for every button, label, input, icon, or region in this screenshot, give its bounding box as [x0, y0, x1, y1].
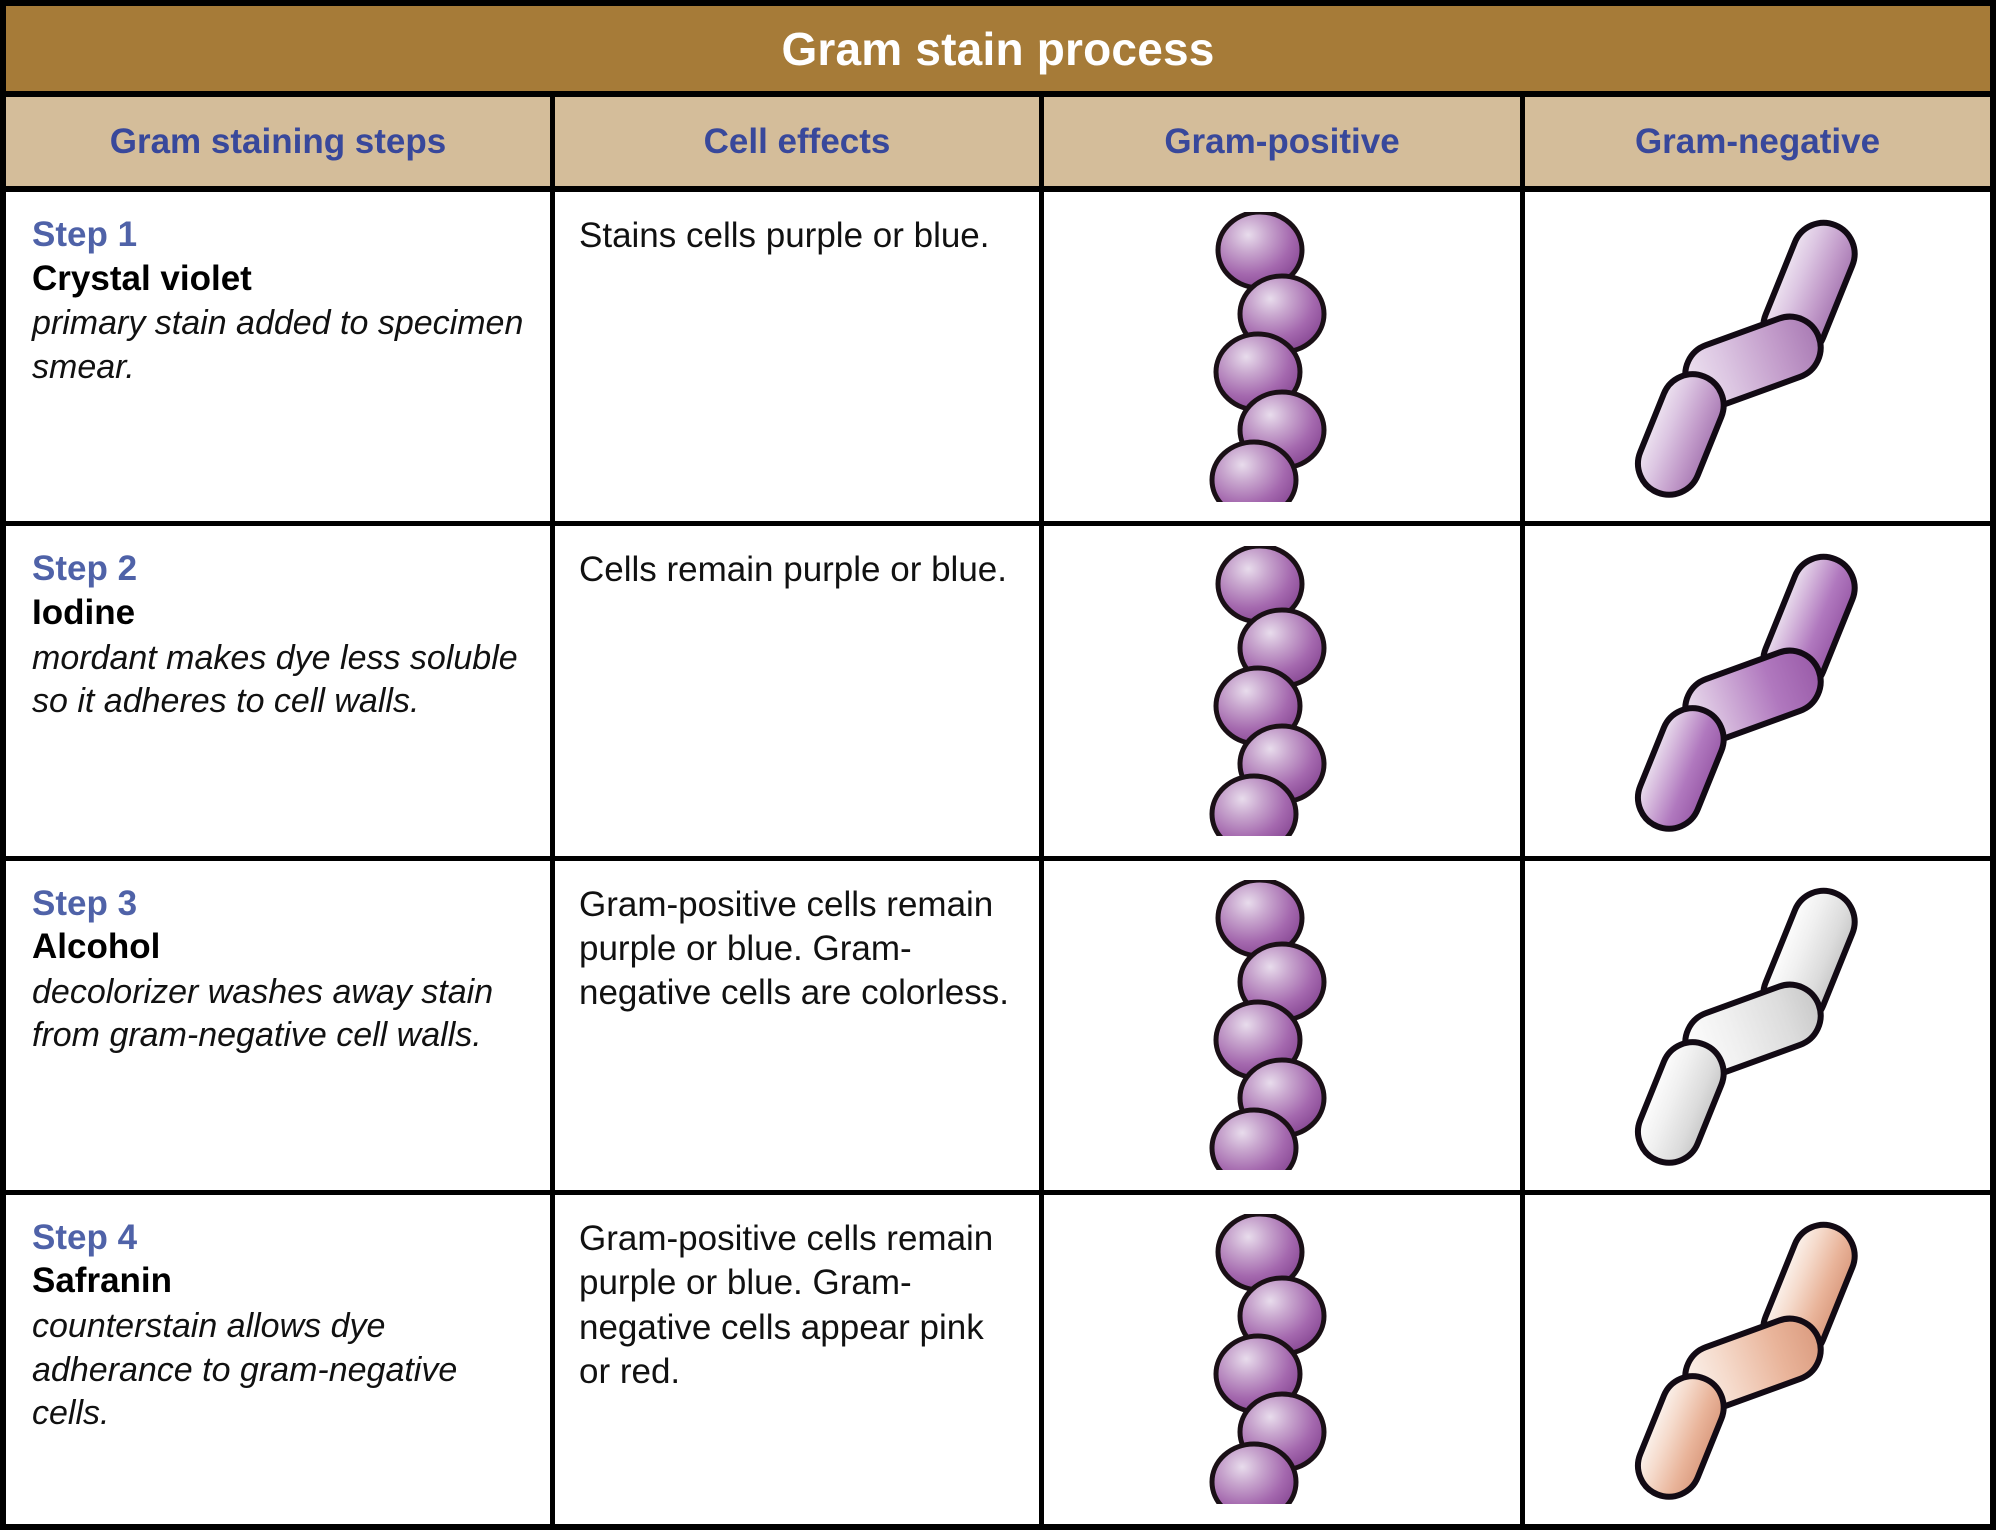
cell-effects-cell: Gram-positive cells remain purple or blu… [555, 1195, 1044, 1524]
table-body: Step 1 Crystal violet primary stain adde… [6, 192, 1990, 1524]
cell-effects-text: Cells remain purple or blue. [579, 548, 1021, 592]
reagent-name: Safranin [32, 1259, 524, 1303]
step-description: decolorizer washes away stain from gram-… [32, 971, 524, 1058]
gram-negative-cell [1525, 861, 1990, 1190]
colorless-rods-icon [1525, 861, 1990, 1190]
step-label: Step 2 [32, 548, 524, 591]
purple-cocci-chain-icon [1044, 1195, 1520, 1524]
gram-positive-cell [1044, 526, 1525, 855]
step-label: Step 3 [32, 883, 524, 926]
step-label: Step 4 [32, 1217, 524, 1260]
column-header-steps: Gram staining steps [6, 97, 555, 186]
purple-cocci-chain-icon [1044, 192, 1520, 521]
table-row: Step 4 Safranin counterstain allows dye … [6, 1195, 1990, 1524]
step-description: counterstain allows dye adherance to gra… [32, 1305, 524, 1436]
table-row: Step 1 Crystal violet primary stain adde… [6, 192, 1990, 526]
step-description: primary stain added to specimen smear. [32, 302, 524, 389]
cell-effects-cell: Stains cells purple or blue. [555, 192, 1044, 521]
gram-negative-cell [1525, 1195, 1990, 1524]
cell-effects-cell: Gram-positive cells remain purple or blu… [555, 861, 1044, 1190]
pink-rods-icon [1525, 1195, 1990, 1524]
column-header-label: Gram staining steps [110, 122, 446, 162]
table-row: Step 2 Iodine mordant makes dye less sol… [6, 526, 1990, 860]
cell-effects-text: Gram-positive cells remain purple or blu… [579, 883, 1021, 1016]
column-header-gram-negative: Gram-negative [1525, 97, 1990, 186]
purple-rods-icon [1525, 526, 1990, 855]
gram-positive-cell [1044, 1195, 1525, 1524]
reagent-name: Crystal violet [32, 257, 524, 301]
gram-negative-cell [1525, 192, 1990, 521]
column-header-effects: Cell effects [555, 97, 1044, 186]
step-cell: Step 4 Safranin counterstain allows dye … [6, 1195, 555, 1524]
table-header-row: Gram staining steps Cell effects Gram-po… [6, 97, 1990, 192]
table-row: Step 3 Alcohol decolorizer washes away s… [6, 861, 1990, 1195]
light-purple-rods-icon [1525, 192, 1990, 521]
column-header-label: Gram-positive [1164, 122, 1399, 162]
gram-stain-process-table: Gram stain process Gram staining steps C… [0, 0, 1996, 1530]
step-cell: Step 2 Iodine mordant makes dye less sol… [6, 526, 555, 855]
purple-cocci-chain-icon [1044, 526, 1520, 855]
page-title: Gram stain process [781, 22, 1214, 76]
column-header-label: Gram-negative [1635, 122, 1880, 162]
gram-negative-cell [1525, 526, 1990, 855]
reagent-name: Alcohol [32, 925, 524, 969]
gram-positive-cell [1044, 861, 1525, 1190]
reagent-name: Iodine [32, 591, 524, 635]
cell-effects-text: Stains cells purple or blue. [579, 214, 1021, 258]
purple-cocci-chain-icon [1044, 861, 1520, 1190]
step-description: mordant makes dye less soluble so it adh… [32, 637, 524, 724]
step-label: Step 1 [32, 214, 524, 257]
column-header-gram-positive: Gram-positive [1044, 97, 1525, 186]
cell-effects-text: Gram-positive cells remain purple or blu… [579, 1217, 1021, 1395]
step-cell: Step 3 Alcohol decolorizer washes away s… [6, 861, 555, 1190]
gram-positive-cell [1044, 192, 1525, 521]
table-title-bar: Gram stain process [6, 6, 1990, 97]
column-header-label: Cell effects [704, 122, 891, 162]
step-cell: Step 1 Crystal violet primary stain adde… [6, 192, 555, 521]
cell-effects-cell: Cells remain purple or blue. [555, 526, 1044, 855]
